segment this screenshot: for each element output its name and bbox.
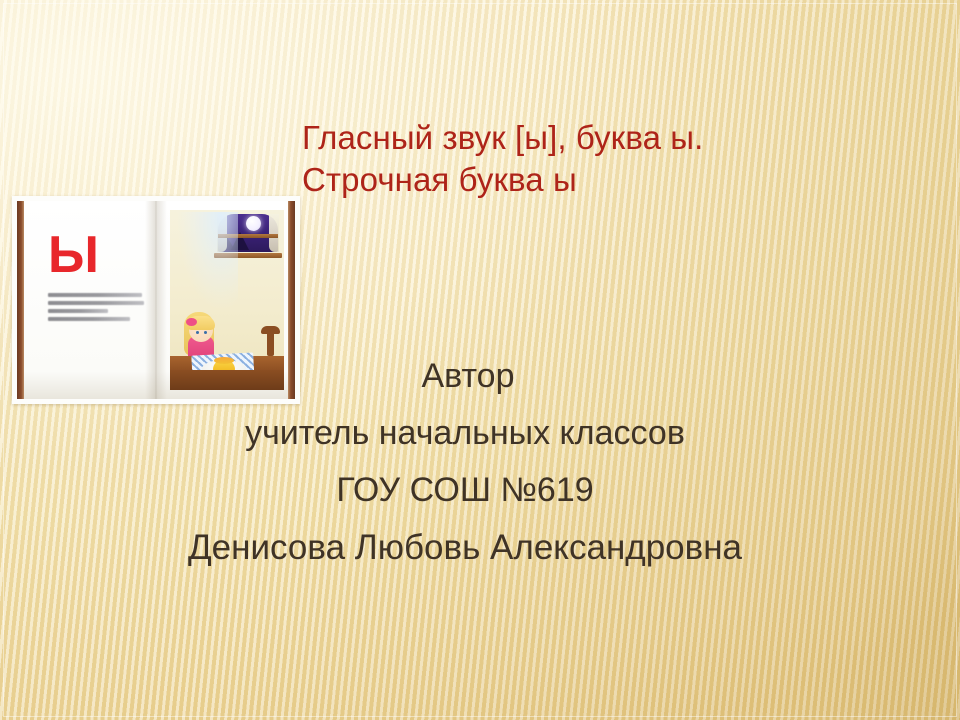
girl-hair-bow: [186, 318, 197, 326]
author-full-name: Денисова Любовь Александровна: [60, 519, 870, 576]
slide-title: Гласный звук [ы], буква ы. Строчная букв…: [302, 117, 922, 201]
author-label: Автор: [60, 348, 870, 405]
girl-eye: [204, 331, 207, 334]
author-role: учитель начальных классов: [60, 405, 870, 462]
poem-text-block: [48, 293, 144, 325]
author-school: ГОУ СОШ №619: [60, 462, 870, 519]
curtain-right: [269, 214, 279, 252]
presentation-slide: Гласный звук [ы], буква ы. Строчная букв…: [0, 0, 960, 720]
letter-y-glyph: Ы: [48, 229, 98, 281]
author-text-block: Автор учитель начальных классов ГОУ СОШ …: [60, 348, 870, 576]
poem-line: [48, 309, 108, 313]
window-light-glow: [178, 212, 238, 308]
girl-eye: [196, 331, 199, 334]
book-cover-left-edge: [17, 201, 24, 399]
poem-line: [48, 317, 130, 321]
poem-line: [48, 301, 144, 305]
poem-line: [48, 293, 142, 297]
moon-icon: [246, 216, 261, 231]
